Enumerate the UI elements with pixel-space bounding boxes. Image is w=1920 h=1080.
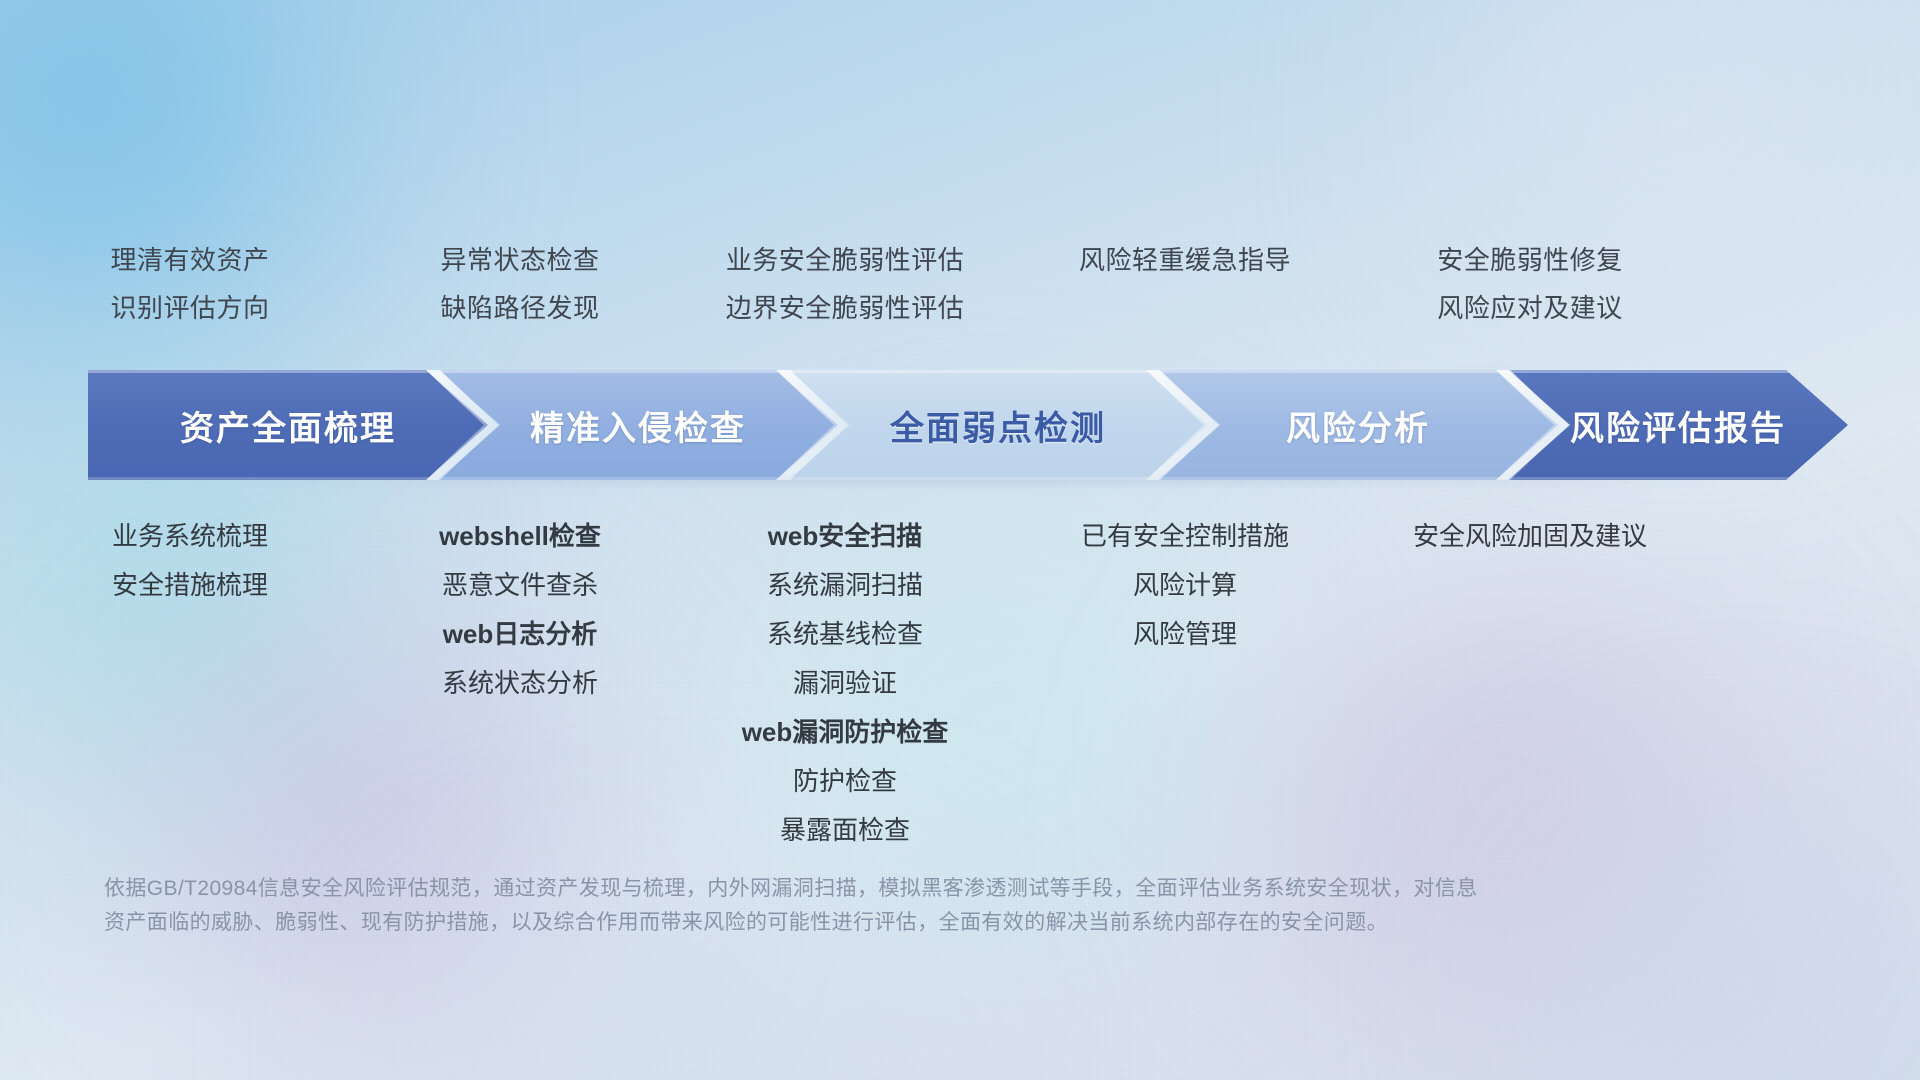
top-captions-intrusion-check: 异常状态检查 缺陷路径发现 [360, 236, 680, 332]
caption-line: 边界安全脆弱性评估 [680, 284, 1010, 332]
list-item: 系统基线检查 [680, 610, 1010, 659]
list-item: 安全风险加固及建议 [1360, 512, 1700, 561]
list-item: 风险管理 [1010, 610, 1360, 659]
list-item: 系统状态分析 [360, 659, 680, 708]
bottom-list-risk-analysis: 已有安全控制措施 风险计算 风险管理 [1010, 512, 1360, 659]
bottom-list-intrusion-check: webshell检查 恶意文件查杀 web日志分析 系统状态分析 [360, 512, 680, 708]
list-item: webshell检查 [360, 512, 680, 561]
caption-line: 风险应对及建议 [1360, 284, 1700, 332]
bottom-lists-row: 业务系统梳理 安全措施梳理 webshell检查 恶意文件查杀 web日志分析 … [0, 512, 1920, 855]
caption-line: 风险轻重缓急指导 [1010, 236, 1360, 284]
infographic-root: 理清有效资产 识别评估方向 异常状态检查 缺陷路径发现 业务安全脆弱性评估 边界… [0, 0, 1920, 1080]
list-item: web漏洞防护检查 [680, 708, 1010, 757]
caption-line: 识别评估方向 [20, 284, 360, 332]
bottom-list-asset-inventory: 业务系统梳理 安全措施梳理 [20, 512, 360, 610]
caption-line: 异常状态检查 [360, 236, 680, 284]
list-item: 已有安全控制措施 [1010, 512, 1360, 561]
top-captions-risk-analysis: 风险轻重缓急指导 [1010, 236, 1360, 332]
list-item: 业务系统梳理 [20, 512, 360, 561]
footer-line-1: 依据GB/T20984信息安全风险评估规范，通过资产发现与梳理，内外网漏洞扫描，… [104, 872, 1744, 906]
chevron-label: 风险评估报告 [1570, 401, 1786, 450]
top-captions-asset-inventory: 理清有效资产 识别评估方向 [20, 236, 360, 332]
list-item: web安全扫描 [680, 512, 1010, 561]
list-item: 风险计算 [1010, 561, 1360, 610]
bottom-list-assessment-report: 安全风险加固及建议 [1360, 512, 1700, 561]
list-item: 系统漏洞扫描 [680, 561, 1010, 610]
chevron-stage-assessment-report[interactable]: 风险评估报告 [1508, 370, 1848, 480]
list-item: 漏洞验证 [680, 659, 1010, 708]
caption-line: 缺陷路径发现 [360, 284, 680, 332]
list-item: 暴露面检查 [680, 806, 1010, 855]
chevron-label: 全面弱点检测 [890, 401, 1106, 450]
chevron-label: 资产全面梳理 [180, 401, 396, 450]
top-captions-weakness-detection: 业务安全脆弱性评估 边界安全脆弱性评估 [680, 236, 1010, 332]
chevron-stage-asset-inventory[interactable]: 资产全面梳理 [88, 370, 488, 480]
caption-line: 理清有效资产 [20, 236, 360, 284]
footer-description: 依据GB/T20984信息安全风险评估规范，通过资产发现与梳理，内外网漏洞扫描，… [104, 872, 1744, 940]
caption-line: 业务安全脆弱性评估 [680, 236, 1010, 284]
caption-line: 安全脆弱性修复 [1360, 236, 1700, 284]
top-captions-row: 理清有效资产 识别评估方向 异常状态检查 缺陷路径发现 业务安全脆弱性评估 边界… [0, 236, 1920, 332]
footer-line-2: 资产面临的威胁、脆弱性、现有防护措施，以及综合作用而带来风险的可能性进行评估，全… [104, 906, 1744, 940]
process-chevron-banner: 资产全面梳理 精准入侵检查 全面弱点检测 风险分析 风险评估报告 [88, 370, 1848, 480]
chevron-stage-risk-analysis[interactable]: 风险分析 [1158, 370, 1558, 480]
chevron-label: 精准入侵检查 [530, 401, 746, 450]
chevron-stage-intrusion-check[interactable]: 精准入侵检查 [438, 370, 838, 480]
list-item: 恶意文件查杀 [360, 561, 680, 610]
list-item: web日志分析 [360, 610, 680, 659]
list-item: 防护检查 [680, 757, 1010, 806]
chevron-stage-weakness-detection[interactable]: 全面弱点检测 [788, 370, 1208, 480]
chevron-label: 风险分析 [1286, 401, 1430, 450]
list-item: 安全措施梳理 [20, 561, 360, 610]
top-captions-assessment-report: 安全脆弱性修复 风险应对及建议 [1360, 236, 1700, 332]
bottom-list-weakness-detection: web安全扫描 系统漏洞扫描 系统基线检查 漏洞验证 web漏洞防护检查 防护检… [680, 512, 1010, 855]
